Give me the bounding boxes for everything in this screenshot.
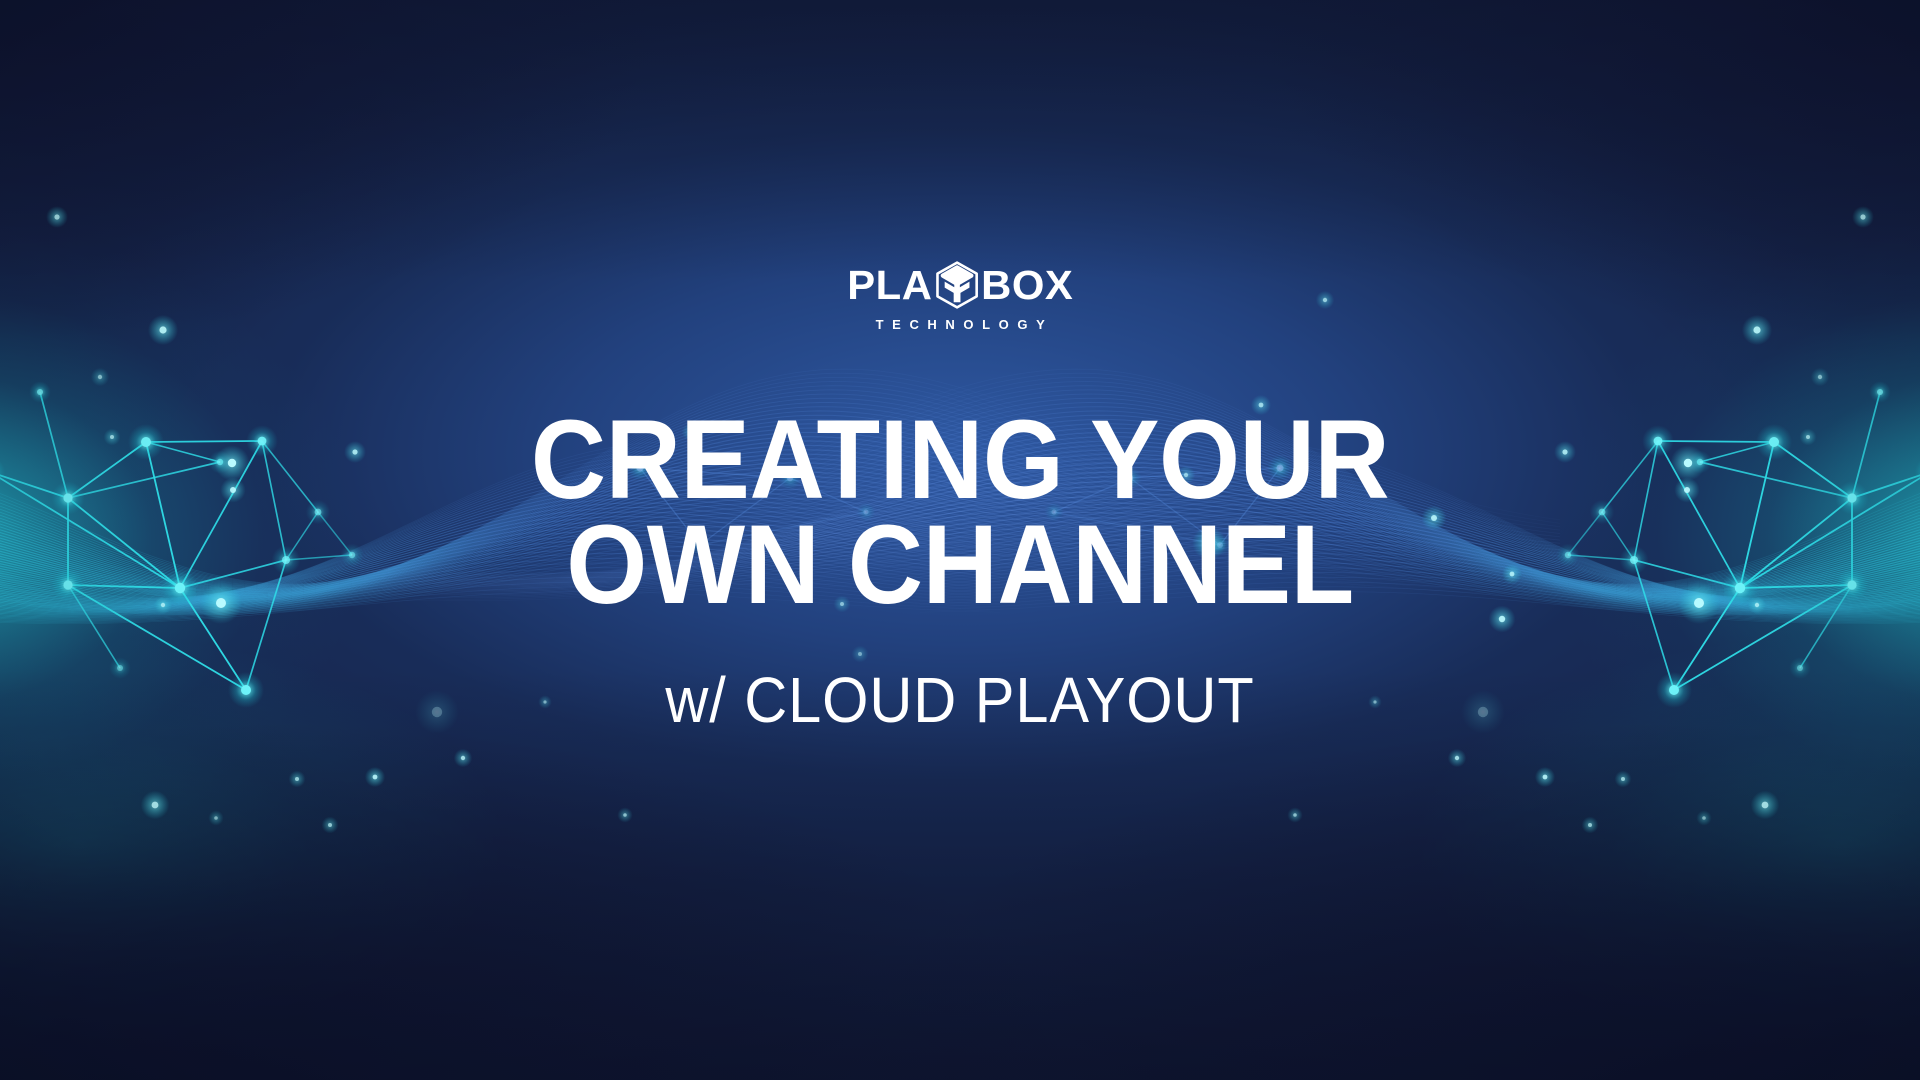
logo-tagline: TECHNOLOGY <box>867 317 1054 332</box>
cube-icon <box>931 259 983 311</box>
page-subtitle: w/ CLOUD PLAYOUT <box>67 668 1853 732</box>
logo-text-left: PLA <box>847 265 932 306</box>
brand-logo: PLA BOX TECHNOLOGY <box>848 262 1072 332</box>
page-title: CREATING YOUR OWN CHANNEL <box>0 408 1920 616</box>
slide-canvas: PLA BOX TECHNOLOGY CREATING YOUR OWN CHA… <box>0 0 1920 1080</box>
title-line-1: CREATING YOUR <box>67 408 1853 511</box>
logo-wordmark: PLA BOX <box>848 262 1072 308</box>
logo-text-right: BOX <box>981 265 1073 306</box>
title-line-2: OWN CHANNEL <box>67 513 1853 616</box>
slide-content: PLA BOX TECHNOLOGY CREATING YOUR OWN CHA… <box>0 0 1920 1080</box>
